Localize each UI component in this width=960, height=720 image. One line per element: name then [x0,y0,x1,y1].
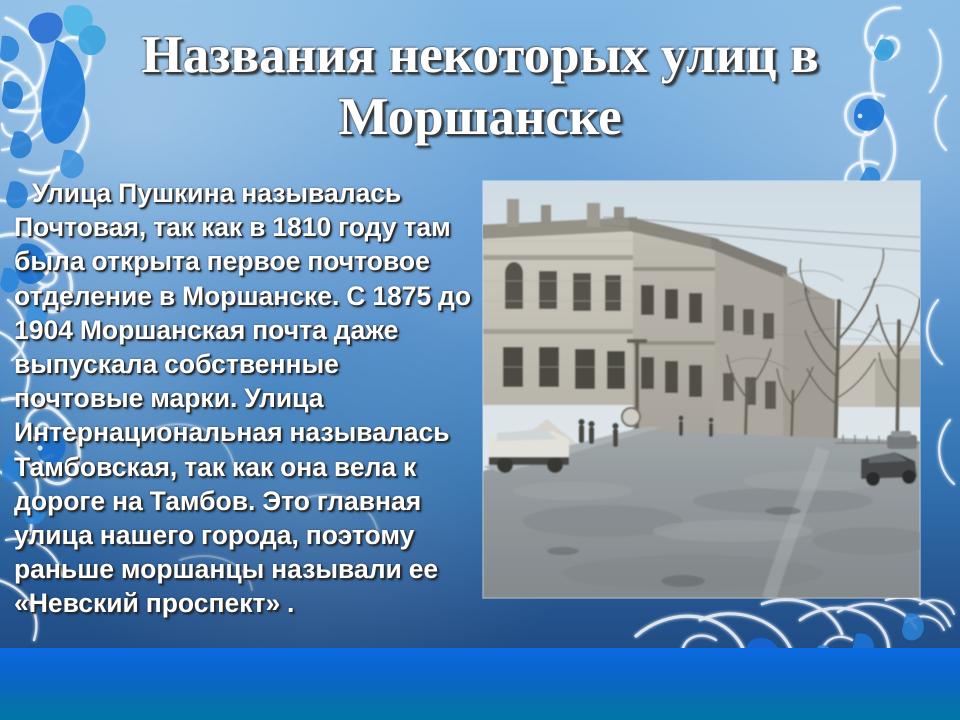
street-photograph [483,181,920,598]
photo-content [483,181,920,598]
slide-title: Названия некоторых улиц в Моршанске [60,24,900,148]
footer-bar [0,648,960,720]
slide-body-text: Улица Пушкина называлась Почтовая, так к… [14,176,474,621]
presentation-slide: Названия некоторых улиц в Моршанске Улиц… [0,0,960,720]
